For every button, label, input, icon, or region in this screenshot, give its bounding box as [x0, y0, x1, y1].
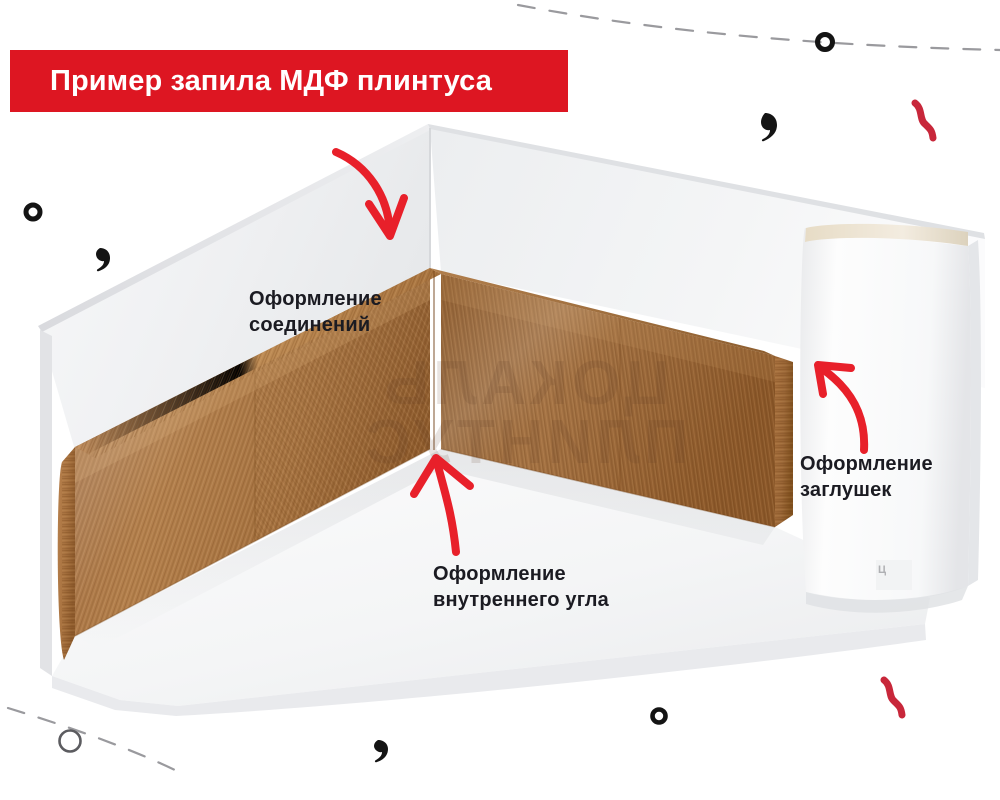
title-banner: Пример запила МДФ плинтуса: [10, 50, 568, 112]
wall-left-side-edge: [40, 330, 52, 676]
skirting-board-photo: [0, 0, 1000, 800]
title-text: Пример запила МДФ плинтуса: [50, 67, 492, 96]
infographic-canvas: ЦОКАЛЬПЛИНТУС Ц Оформление соединений Оф…: [0, 0, 1000, 800]
callout-end-caps: Оформление заглушек: [800, 452, 933, 503]
endcap-panel-board: [800, 228, 971, 600]
callout-joints: Оформление соединений: [249, 287, 382, 338]
callout-inner-corner: Оформление внутреннего угла: [433, 562, 609, 613]
brand-glyph: Ц: [878, 564, 910, 588]
